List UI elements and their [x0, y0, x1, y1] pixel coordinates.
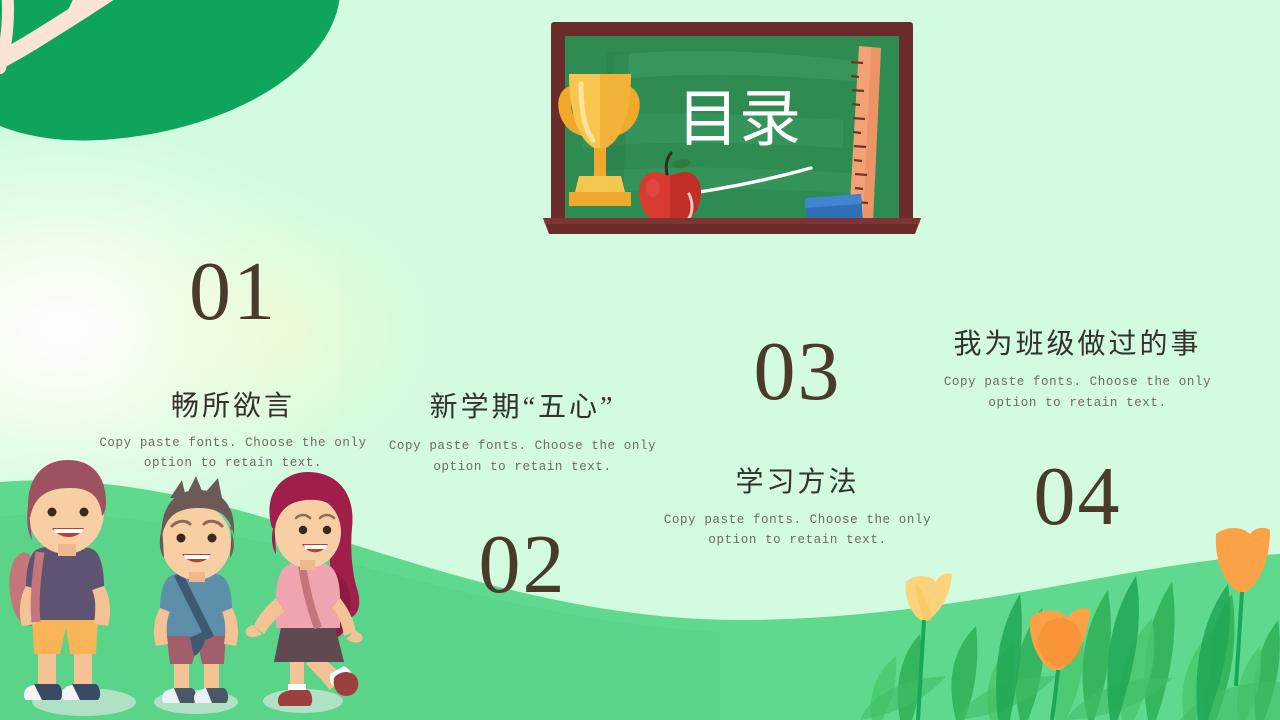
student-middle: [154, 476, 238, 703]
toc-section-02[interactable]: 新学期“五心” Copy paste fonts. Choose the onl…: [385, 385, 660, 605]
tulip-grass-illustration: [860, 490, 1280, 720]
student-right: [245, 472, 362, 706]
student-left: [10, 460, 111, 700]
section-title: 畅所欲言: [88, 384, 378, 424]
section-title: 新学期“五心”: [385, 385, 660, 425]
section-number: 01: [88, 252, 378, 332]
chalkboard: 目录: [543, 22, 921, 250]
section-body: Copy paste fonts. Choose the only option…: [385, 436, 660, 477]
section-body: Copy paste fonts. Choose the only option…: [930, 372, 1225, 413]
board-title: 目录: [677, 86, 801, 154]
slide-canvas: 目录: [0, 0, 1280, 720]
section-number: 02: [385, 525, 660, 605]
eraser-icon: [805, 194, 863, 222]
section-number: 03: [655, 332, 940, 412]
section-title: 我为班级做过的事: [930, 322, 1225, 362]
tree-canopy-illustration: [0, 0, 360, 200]
three-students-illustration: [0, 440, 400, 720]
